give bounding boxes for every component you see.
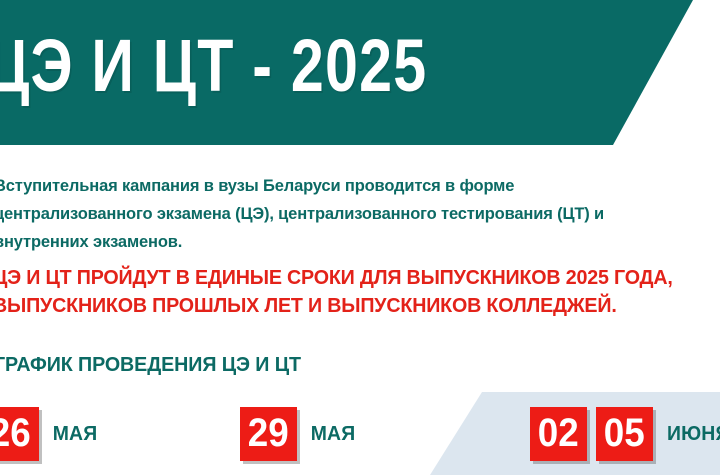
intro-line-1: Вступительная кампания в вузы Беларуси п… xyxy=(0,172,720,200)
emphasis-line-1: ЦЭ И ЦТ ПРОЙДУТ В ЕДИНЫЕ СРОКИ ДЛЯ ВЫПУС… xyxy=(0,264,720,292)
page-title: ЦЭ И ЦТ - 2025 xyxy=(0,23,514,109)
date-month-label: МАЯ xyxy=(311,423,356,445)
date-badge-group: 02 05 xyxy=(530,407,653,461)
date-badge-number: 29 xyxy=(248,413,289,453)
schedule-date-entry: 02 05 ИЮНЯ xyxy=(530,392,720,475)
date-badge-number: 26 xyxy=(0,413,31,453)
intro-line-3: внутренних экзаменов. xyxy=(0,228,720,256)
schedule-heading: ГРАФИК ПРОВЕДЕНИЯ ЦЭ И ЦТ xyxy=(0,352,301,378)
infographic-poster: ЦЭ И ЦТ - 2025 Вступительная кампания в … xyxy=(0,0,720,475)
schedule-date-entry: 29 МАЯ xyxy=(240,392,356,475)
date-badge-number: 05 xyxy=(604,413,645,453)
date-badge: 29 xyxy=(240,407,297,461)
date-badge-group: 29 xyxy=(240,407,297,461)
emphasis-line-2: ВЫПУСКНИКОВ ПРОШЛЫХ ЛЕТ И ВЫПУСКНИКОВ КО… xyxy=(0,292,720,320)
schedule-date-entry: 26 МАЯ xyxy=(0,392,98,475)
date-badge-number: 02 xyxy=(538,413,579,453)
schedule-dates-row: 26 МАЯ 29 МАЯ 02 05 ИЮНЯ xyxy=(0,392,720,475)
date-month-label: МАЯ xyxy=(53,423,98,445)
intro-line-2: централизованного экзамена (ЦЭ), централ… xyxy=(0,200,720,228)
date-badge-group: 26 xyxy=(0,407,39,461)
date-badge: 26 xyxy=(0,407,39,461)
date-month-label: ИЮНЯ xyxy=(667,423,720,445)
emphasis-paragraph: ЦЭ И ЦТ ПРОЙДУТ В ЕДИНЫЕ СРОКИ ДЛЯ ВЫПУС… xyxy=(0,264,720,320)
date-badge: 05 xyxy=(596,407,653,461)
intro-paragraph: Вступительная кампания в вузы Беларуси п… xyxy=(0,172,720,256)
date-badge: 02 xyxy=(530,407,587,461)
